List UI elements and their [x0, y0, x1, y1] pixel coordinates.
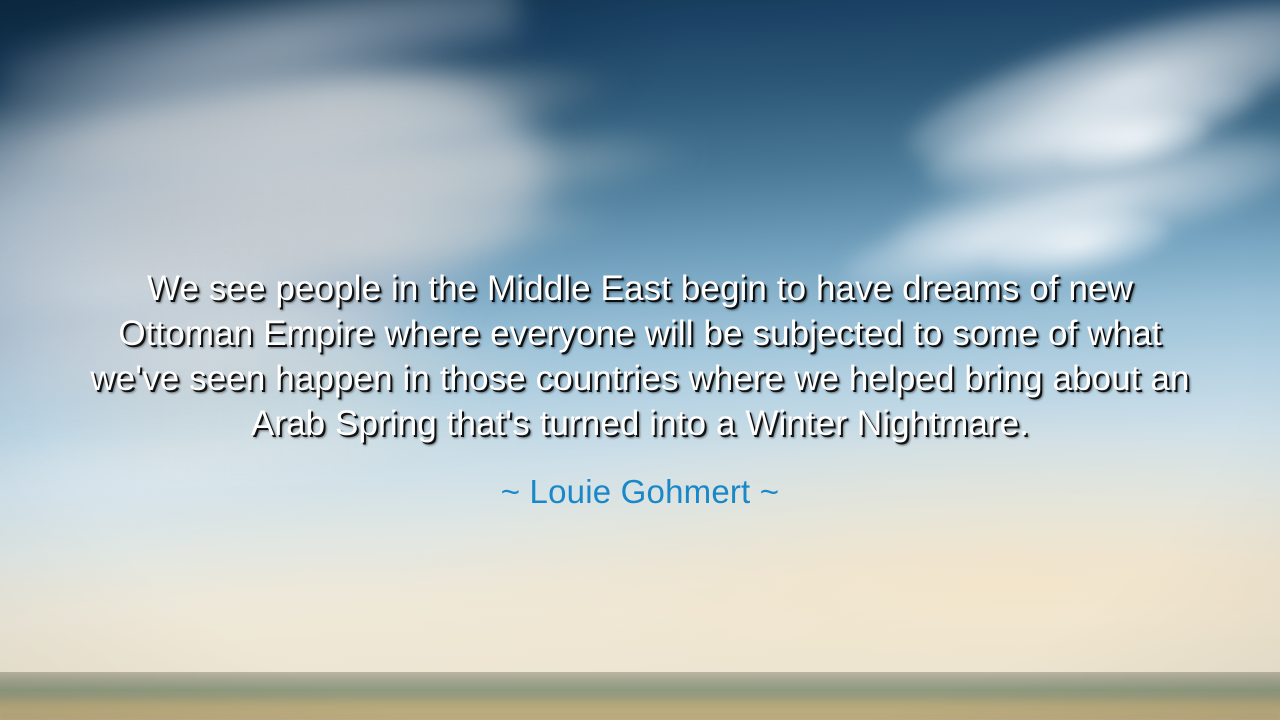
text-overlay: We see people in the Middle East begin t… — [0, 0, 1280, 720]
quote-author: ~ Louie Gohmert ~ — [501, 472, 780, 512]
quote-text: We see people in the Middle East begin t… — [75, 266, 1205, 446]
quote-card: We see people in the Middle East begin t… — [0, 0, 1280, 720]
